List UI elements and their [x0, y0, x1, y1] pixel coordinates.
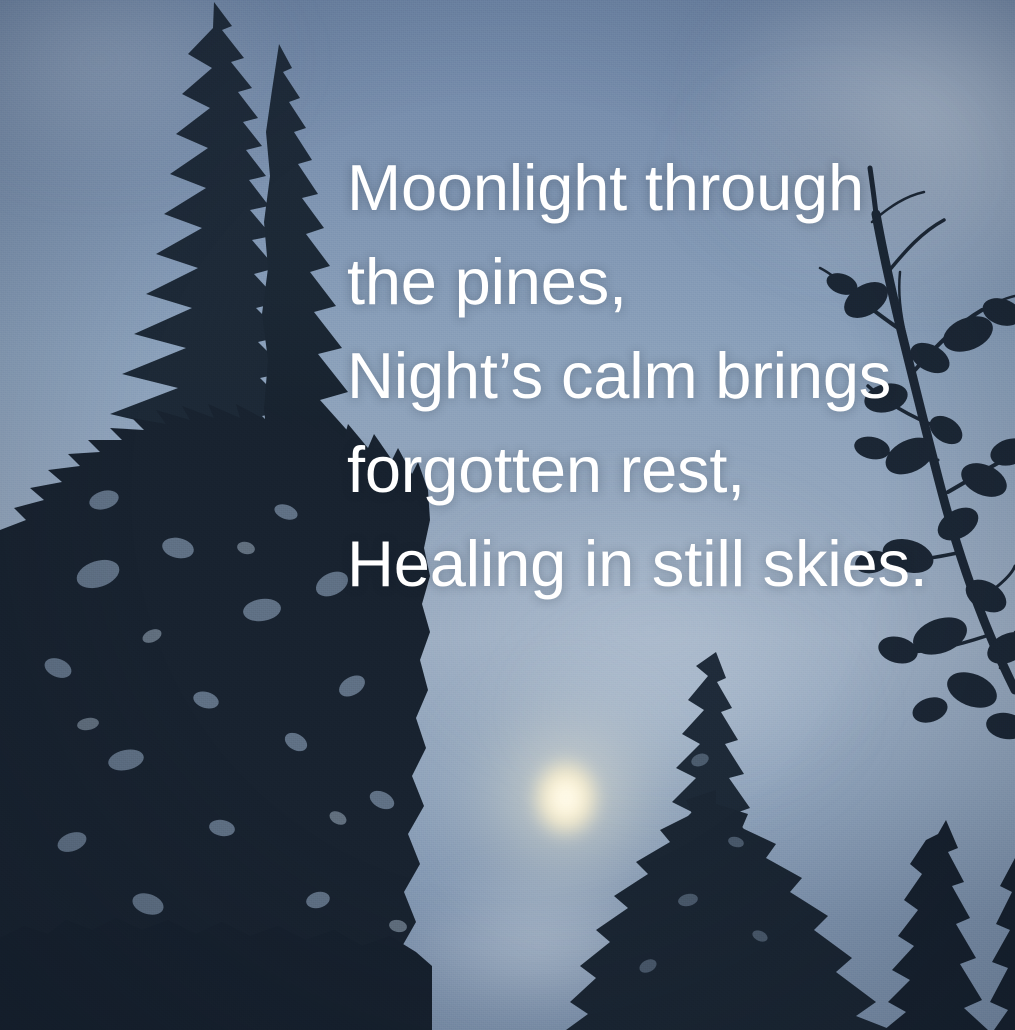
poem-line-3: Night’s calm brings	[347, 329, 987, 423]
poem-line-5: Healing in still skies.	[347, 517, 987, 611]
poem-line-4: forgotten rest,	[347, 423, 987, 517]
poem-line-1: Moonlight through	[347, 141, 987, 235]
poster-canvas: Moonlight through the pines, Night’s cal…	[0, 0, 1015, 1030]
right-conifer	[566, 652, 892, 1030]
poem-line-2: the pines,	[347, 235, 987, 329]
poem-text-block: Moonlight through the pines, Night’s cal…	[347, 141, 987, 611]
far-right-conifer	[884, 820, 1015, 1030]
